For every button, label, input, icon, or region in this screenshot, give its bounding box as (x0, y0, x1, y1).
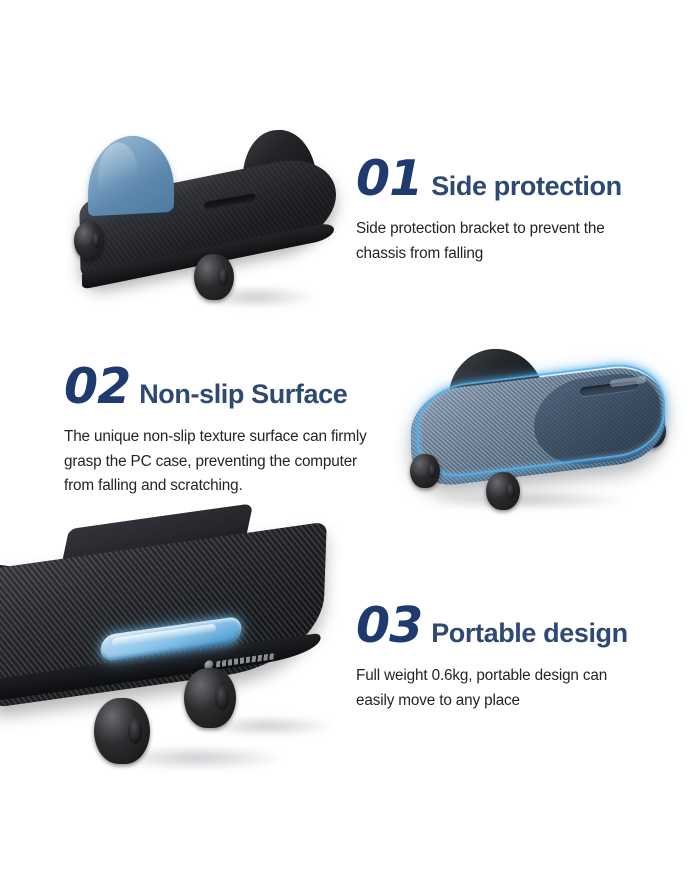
feature-description-02: The unique non-slip texture surface can … (64, 425, 386, 499)
product-image-side-protection (46, 118, 346, 303)
feature-section-03: 03 Portable design Full weight 0.6kg, po… (0, 540, 700, 775)
product-illustration-03 (16, 540, 346, 775)
feature-description-03: Full weight 0.6kg, portable design can e… (356, 664, 648, 714)
feature-number-02: 02 (64, 362, 130, 411)
feature-title-01: Side protection (431, 173, 622, 200)
product-illustration-02 (394, 348, 684, 513)
feature-title-02: Non-slip Surface (139, 381, 347, 408)
caster-wheel (74, 222, 104, 259)
feature-section-02: 02 Non-slip Surface The unique non-slip … (0, 348, 700, 513)
product-feature-infographic: 01 Side protection Side protection brack… (0, 0, 700, 869)
feature-headline-03: 03 Portable design (356, 601, 686, 650)
ground-shadow (434, 490, 624, 510)
feature-copy-03: 03 Portable design Full weight 0.6kg, po… (356, 601, 686, 714)
caster-wheel (184, 668, 236, 728)
feature-title-03: Portable design (431, 620, 628, 647)
feature-description-01: Side protection bracket to prevent the c… (356, 217, 658, 267)
caster-wheel (410, 454, 440, 488)
product-illustration-01 (46, 118, 346, 303)
caster-wheel (94, 698, 150, 764)
feature-number-03: 03 (356, 601, 422, 650)
side-bracket-highlighted (88, 134, 174, 217)
feature-section-01: 01 Side protection Side protection brack… (0, 118, 700, 303)
product-image-portable-design (16, 540, 346, 775)
caster-wheel (194, 254, 234, 300)
feature-headline-02: 02 Non-slip Surface (64, 362, 394, 411)
feature-copy-01: 01 Side protection Side protection brack… (356, 154, 682, 267)
feature-headline-01: 01 Side protection (356, 154, 682, 203)
feature-number-01: 01 (356, 154, 422, 203)
caster-wheel (486, 472, 520, 510)
feature-copy-02: 02 Non-slip Surface The unique non-slip … (64, 362, 394, 499)
product-image-non-slip-surface (394, 348, 684, 513)
